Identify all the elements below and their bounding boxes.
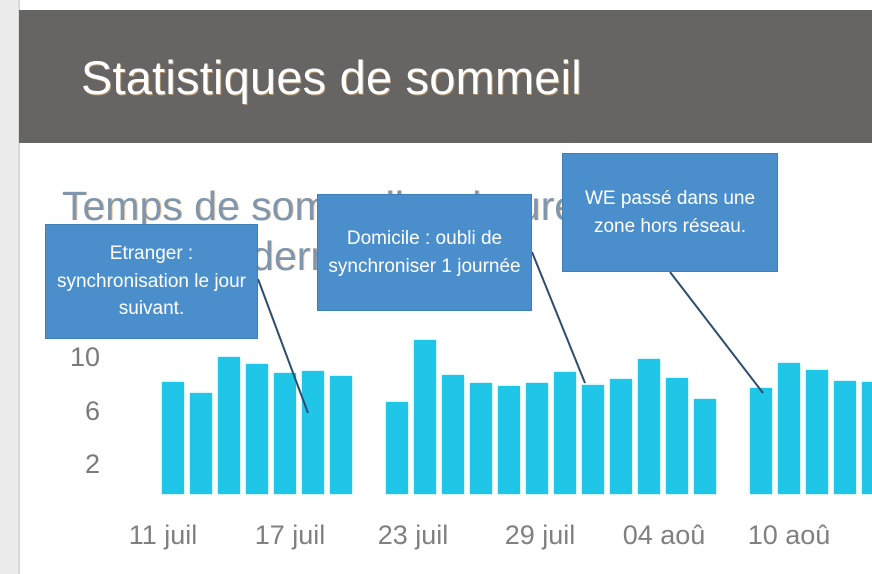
bar xyxy=(302,371,324,494)
left-margin-strip xyxy=(0,0,18,574)
x-axis-tick-5: 10 aoû xyxy=(748,520,831,551)
bar xyxy=(274,373,296,494)
bar xyxy=(386,402,408,494)
bar xyxy=(442,375,464,494)
bar xyxy=(190,393,212,494)
bar xyxy=(554,372,576,494)
bar xyxy=(162,382,184,494)
bar xyxy=(470,383,492,494)
bar xyxy=(666,378,688,494)
bar xyxy=(582,385,604,494)
x-axis-tick-0: 11 juil xyxy=(129,520,198,551)
bar xyxy=(330,376,352,494)
annotation-reseau: WE passé dans une zone hors réseau. xyxy=(562,153,778,272)
slide-header-banner: Statistiques de sommeil xyxy=(19,10,872,143)
bar xyxy=(526,383,548,494)
bar xyxy=(498,386,520,494)
annotation-domicile-text: Domicile : oubli de synchroniser 1 journ… xyxy=(326,225,523,280)
page-title: Statistiques de sommeil xyxy=(81,50,582,105)
x-axis: 11 juil17 juil23 juil29 juil04 aoû10 aoû xyxy=(20,520,872,564)
x-axis-tick-2: 23 juil xyxy=(378,520,449,551)
annotation-reseau-text: WE passé dans une zone hors réseau. xyxy=(571,185,769,240)
bar xyxy=(806,370,828,494)
bar xyxy=(610,379,632,494)
bar xyxy=(638,359,660,494)
annotation-etranger: Etranger : synchronisation le jour suiva… xyxy=(45,224,258,339)
x-axis-tick-3: 29 juil xyxy=(505,520,576,551)
bar xyxy=(694,399,716,494)
bar xyxy=(778,363,800,494)
bar xyxy=(414,340,436,494)
annotation-domicile: Domicile : oubli de synchroniser 1 journ… xyxy=(317,194,532,311)
bar xyxy=(218,357,240,494)
bar xyxy=(862,382,872,494)
x-axis-tick-4: 04 aoû xyxy=(623,520,706,551)
bar xyxy=(246,364,268,494)
screenshot-root: Statistiques de sommeil Temps de sommeil… xyxy=(0,0,872,574)
x-axis-tick-1: 17 juil xyxy=(255,520,326,551)
bar xyxy=(834,381,856,494)
bar xyxy=(750,388,772,494)
annotation-etranger-text: Etranger : synchronisation le jour suiva… xyxy=(54,240,249,323)
